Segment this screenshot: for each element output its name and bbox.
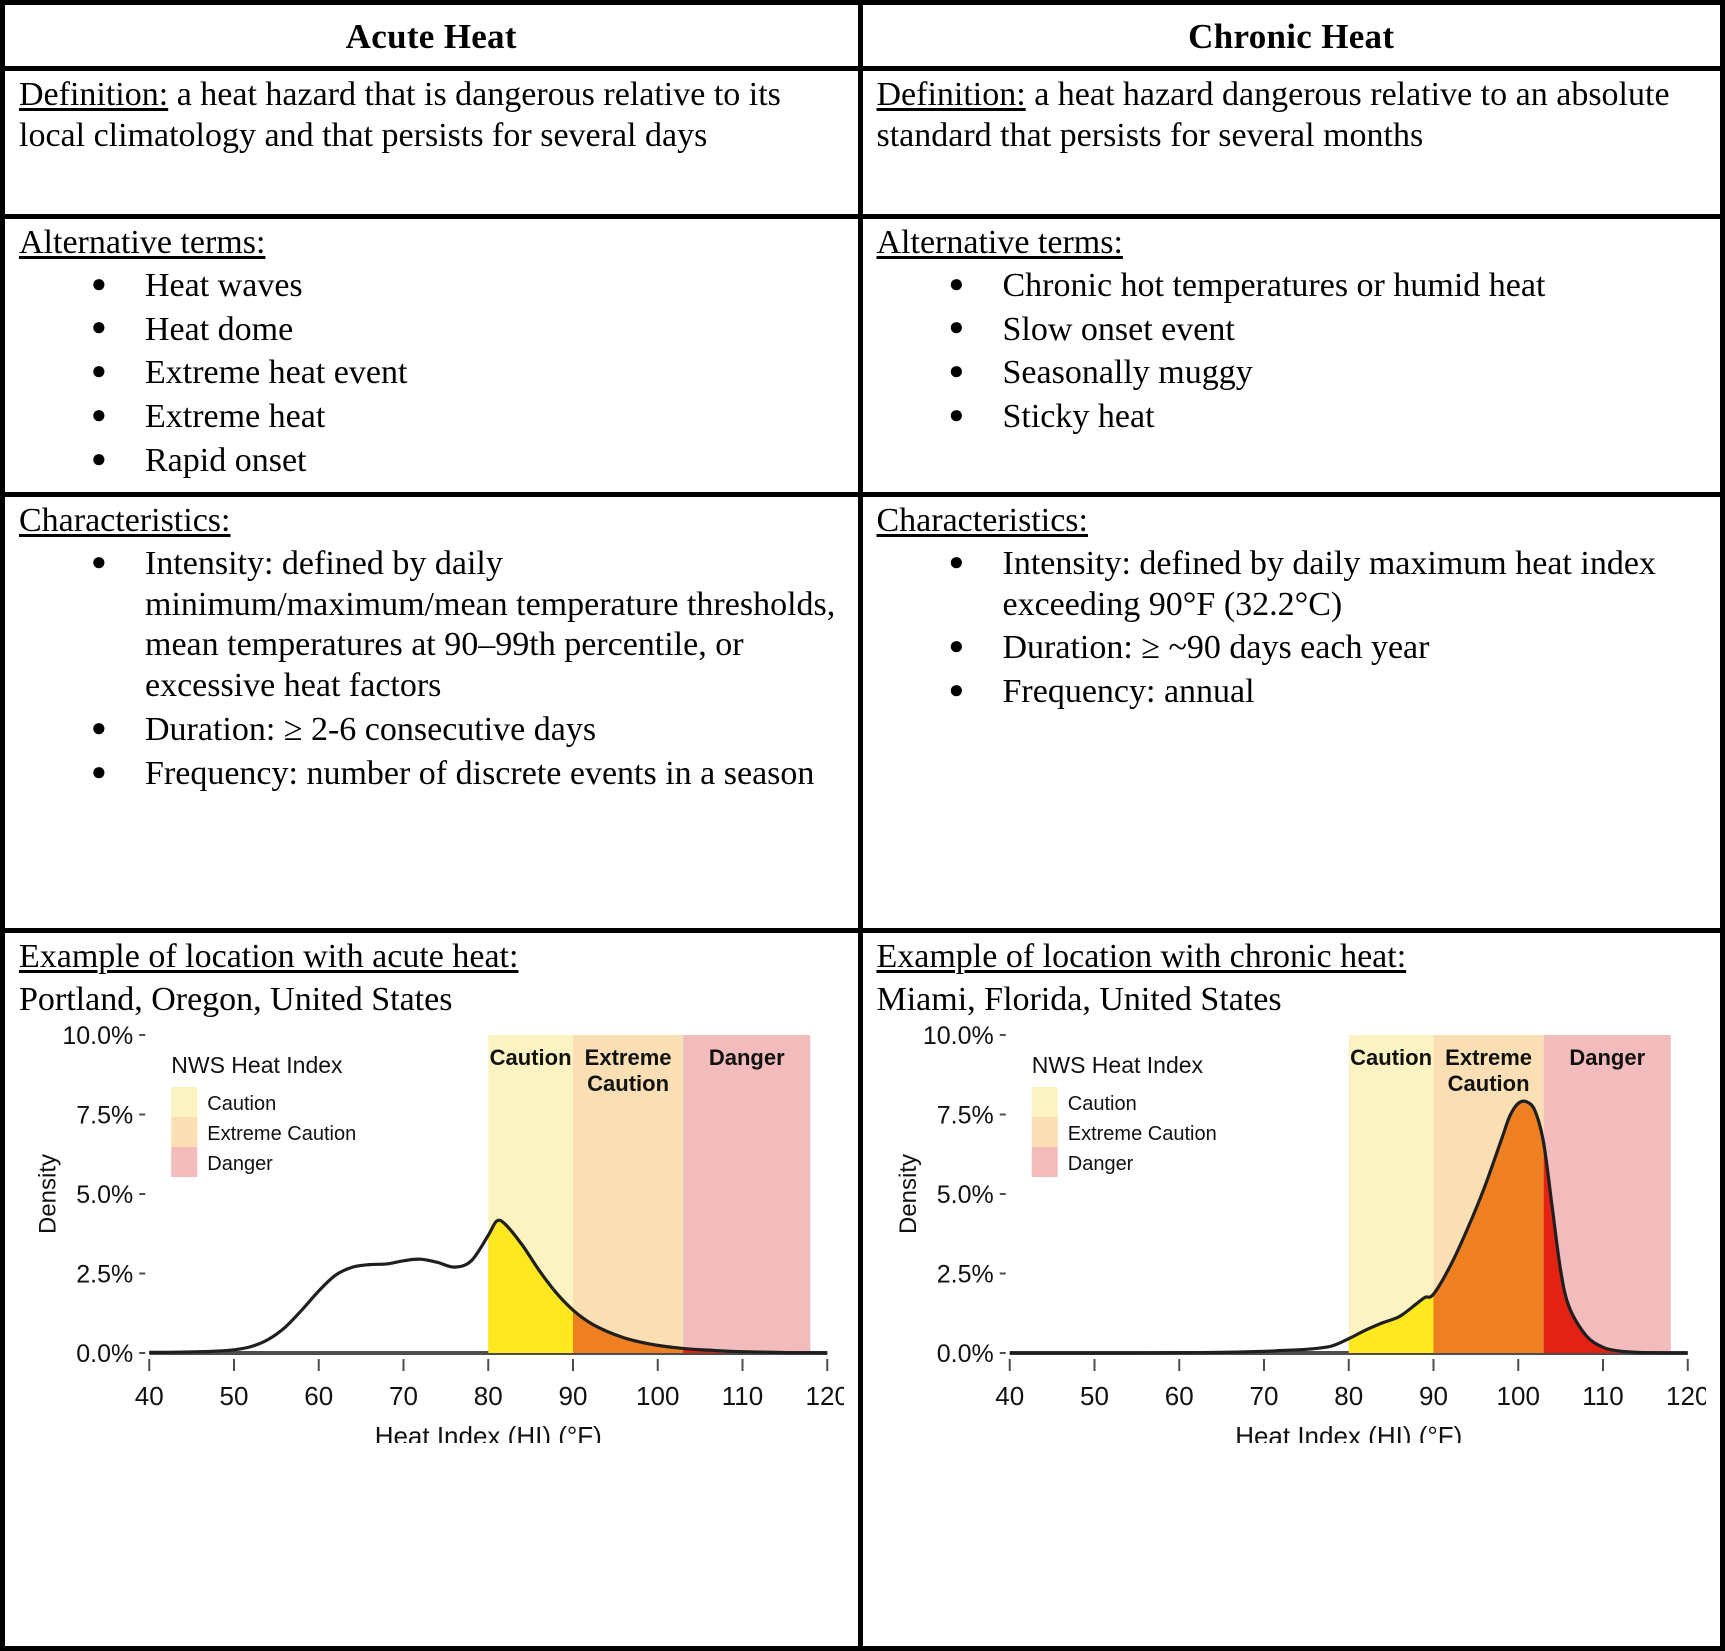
bullet-icon: ● xyxy=(91,311,107,342)
y-tick-label: 2.5% xyxy=(76,1260,133,1288)
band-label-text: Caution xyxy=(587,1071,669,1096)
alt-terms-cell-acute: Alternative terms: ●Heat waves ●Heat dom… xyxy=(5,219,863,492)
legend-swatch xyxy=(171,1147,197,1177)
list-item-label: Duration: ≥ ~90 days each year xyxy=(1003,629,1430,666)
characteristics-cell-acute: Characteristics: ●Intensity: defined by … xyxy=(5,497,863,928)
legend-swatch xyxy=(171,1087,197,1117)
list-item-label: Frequency: annual xyxy=(1003,673,1255,710)
x-tick-label: 100 xyxy=(1496,1381,1539,1411)
x-tick-label: 100 xyxy=(636,1381,679,1411)
characteristics-cell-chronic: Characteristics: ●Intensity: defined by … xyxy=(863,497,1721,928)
alt-terms-label-acute: Alternative terms: xyxy=(19,223,844,264)
definition-paragraph-chronic: Definition: a heat hazard dangerous rela… xyxy=(877,75,1707,157)
list-item-label: Intensity: defined by daily minimum/maxi… xyxy=(145,545,835,704)
legend-entry-label: Danger xyxy=(1067,1153,1133,1175)
characteristics-row: Characteristics: ●Intensity: defined by … xyxy=(5,497,1720,933)
list-item: ●Extreme heat event xyxy=(91,353,844,394)
band-danger xyxy=(683,1035,810,1353)
list-item-label: Extreme heat xyxy=(145,398,325,435)
list-item: ●Frequency: number of discrete events in… xyxy=(91,754,844,795)
legend-entry-label: Extreme Caution xyxy=(1067,1123,1216,1145)
y-axis-title: Density xyxy=(34,1154,61,1234)
list-item-label: Intensity: defined by daily maximum heat… xyxy=(1003,545,1656,623)
y-tick-label: 5.0% xyxy=(76,1181,133,1209)
y-tick-label: 2.5% xyxy=(936,1260,993,1288)
y-tick-label: 7.5% xyxy=(76,1101,133,1129)
list-item: ●Rapid onset xyxy=(91,441,844,482)
y-axis: 0.0%2.5%5.0%7.5%10.0%Density xyxy=(894,1023,1005,1368)
legend-swatch xyxy=(1031,1087,1057,1117)
x-tick-label: 70 xyxy=(1249,1381,1278,1411)
characteristics-label-acute: Characteristics: xyxy=(19,501,844,542)
x-axis: 405060708090100110120Heat Index (HI) (°F… xyxy=(135,1359,844,1443)
example-cell-chronic: Example of location with chronic heat: M… xyxy=(863,933,1721,1646)
characteristics-list-acute: ●Intensity: defined by daily minimum/max… xyxy=(19,544,844,795)
bullet-icon: ● xyxy=(91,443,107,474)
alt-terms-label-chronic: Alternative terms: xyxy=(877,223,1707,264)
list-item: ●Heat dome xyxy=(91,310,844,351)
alternative-terms-row: Alternative terms: ●Heat waves ●Heat dom… xyxy=(5,219,1720,497)
x-tick-label: 110 xyxy=(1582,1381,1623,1411)
chart-legend: NWS Heat IndexCautionExtreme CautionDang… xyxy=(171,1052,356,1177)
table-header-row: Acute Heat Chronic Heat xyxy=(5,5,1720,71)
list-item-label: Sticky heat xyxy=(1003,398,1155,435)
bullet-icon: ● xyxy=(949,630,965,661)
legend-swatch xyxy=(1031,1147,1057,1177)
y-tick-label: 10.0% xyxy=(62,1023,133,1050)
legend-entry-label: Caution xyxy=(1067,1093,1136,1115)
bullet-icon: ● xyxy=(949,546,965,577)
characteristics-label-chronic: Characteristics: xyxy=(877,501,1707,542)
example-place-chronic: Miami, Florida, United States xyxy=(877,980,1707,1021)
list-item: ●Sticky heat xyxy=(949,397,1707,438)
legend-title: NWS Heat Index xyxy=(171,1052,343,1078)
band-label-text: Caution xyxy=(1350,1045,1432,1070)
x-tick-label: 80 xyxy=(1334,1381,1363,1411)
definition-cell-acute: Definition: a heat hazard that is danger… xyxy=(5,71,863,214)
x-tick-label: 70 xyxy=(389,1381,418,1411)
x-tick-label: 40 xyxy=(135,1381,164,1411)
x-tick-label: 90 xyxy=(1419,1381,1448,1411)
example-row: Example of location with acute heat: Por… xyxy=(5,933,1720,1646)
x-tick-label: 110 xyxy=(722,1381,763,1411)
column-header-chronic: Chronic Heat xyxy=(863,5,1721,66)
density-chart-portland: CautionExtremeCautionDangerNWS Heat Inde… xyxy=(19,1023,844,1443)
bullet-icon: ● xyxy=(91,546,107,577)
y-tick-label: 0.0% xyxy=(76,1340,133,1368)
definition-label-acute: Definition: xyxy=(19,76,168,113)
x-tick-label: 60 xyxy=(304,1381,333,1411)
bullet-icon: ● xyxy=(91,355,107,386)
y-tick-label: 5.0% xyxy=(936,1181,993,1209)
bullet-icon: ● xyxy=(949,399,965,430)
example-cell-acute: Example of location with acute heat: Por… xyxy=(5,933,863,1646)
band-label-text: Danger xyxy=(709,1045,785,1070)
x-tick-label: 120 xyxy=(806,1381,844,1411)
bullet-icon: ● xyxy=(91,399,107,430)
bullet-icon: ● xyxy=(91,712,107,743)
band-label-text: Danger xyxy=(1569,1045,1645,1070)
legend-swatch xyxy=(171,1117,197,1147)
list-item-label: Frequency: number of discrete events in … xyxy=(145,755,814,792)
chart-legend: NWS Heat IndexCautionExtreme CautionDang… xyxy=(1031,1052,1216,1177)
band-label-text: Caution xyxy=(490,1045,572,1070)
band-label-text: Caution xyxy=(1447,1071,1529,1096)
bullet-icon: ● xyxy=(91,756,107,787)
band-label-text: Extreme xyxy=(1445,1045,1532,1070)
legend-entry-label: Extreme Caution xyxy=(207,1123,356,1145)
band-label-text: Extreme xyxy=(585,1045,672,1070)
y-tick-label: 10.0% xyxy=(922,1023,993,1050)
list-item-label: Rapid onset xyxy=(145,442,306,479)
example-label-chronic: Example of location with chronic heat: xyxy=(877,937,1707,978)
legend-entry-label: Danger xyxy=(207,1153,273,1175)
list-item: ●Chronic hot temperatures or humid heat xyxy=(949,266,1707,307)
x-tick-label: 40 xyxy=(995,1381,1024,1411)
definition-cell-chronic: Definition: a heat hazard dangerous rela… xyxy=(863,71,1721,214)
list-item: ●Heat waves xyxy=(91,266,844,307)
column-header-acute: Acute Heat xyxy=(5,5,863,66)
example-place-acute: Portland, Oregon, United States xyxy=(19,980,844,1021)
list-item-label: Heat waves xyxy=(145,267,303,304)
legend-entry-label: Caution xyxy=(207,1093,276,1115)
list-item: ●Extreme heat xyxy=(91,397,844,438)
acute-heat-title: Acute Heat xyxy=(19,9,844,66)
density-chart-miami: CautionExtremeCautionDangerNWS Heat Inde… xyxy=(877,1023,1707,1443)
x-tick-label: 60 xyxy=(1164,1381,1193,1411)
definition-label-chronic: Definition: xyxy=(877,76,1026,113)
definition-row: Definition: a heat hazard that is danger… xyxy=(5,71,1720,219)
list-item-label: Duration: ≥ 2-6 consecutive days xyxy=(145,711,596,748)
characteristics-list-chronic: ●Intensity: defined by daily maximum hea… xyxy=(877,544,1707,713)
example-label-acute: Example of location with acute heat: xyxy=(19,937,844,978)
heat-comparison-table: Acute Heat Chronic Heat Definition: a he… xyxy=(0,0,1725,1651)
x-tick-label: 90 xyxy=(559,1381,588,1411)
y-axis: 0.0%2.5%5.0%7.5%10.0%Density xyxy=(34,1023,145,1368)
list-item-label: Heat dome xyxy=(145,311,293,348)
list-item-label: Slow onset event xyxy=(1003,311,1235,348)
bullet-icon: ● xyxy=(949,355,965,386)
bullet-icon: ● xyxy=(949,311,965,342)
chronic-heat-title: Chronic Heat xyxy=(877,9,1707,66)
alt-terms-cell-chronic: Alternative terms: ●Chronic hot temperat… xyxy=(863,219,1721,492)
legend-title: NWS Heat Index xyxy=(1031,1052,1203,1078)
x-axis: 405060708090100110120Heat Index (HI) (°F… xyxy=(995,1359,1706,1443)
list-item-label: Chronic hot temperatures or humid heat xyxy=(1003,267,1546,304)
list-item: ●Seasonally muggy xyxy=(949,353,1707,394)
bullet-icon: ● xyxy=(949,268,965,299)
alt-terms-list-acute: ●Heat waves ●Heat dome ●Extreme heat eve… xyxy=(19,266,844,482)
y-axis-title: Density xyxy=(894,1154,921,1234)
x-tick-label: 80 xyxy=(474,1381,503,1411)
list-item: ●Intensity: defined by daily maximum hea… xyxy=(949,544,1707,626)
x-tick-label: 50 xyxy=(220,1381,249,1411)
x-axis-title: Heat Index (HI) (°F) xyxy=(375,1421,602,1443)
list-item: ●Duration: ≥ ~90 days each year xyxy=(949,628,1707,669)
bullet-icon: ● xyxy=(949,674,965,705)
alt-terms-list-chronic: ●Chronic hot temperatures or humid heat … xyxy=(877,266,1707,438)
list-item-label: Extreme heat event xyxy=(145,354,407,391)
x-axis-title: Heat Index (HI) (°F) xyxy=(1235,1421,1462,1443)
y-tick-label: 0.0% xyxy=(936,1340,993,1368)
definition-paragraph-acute: Definition: a heat hazard that is danger… xyxy=(19,75,844,157)
x-tick-label: 120 xyxy=(1666,1381,1706,1411)
list-item: ●Intensity: defined by daily minimum/max… xyxy=(91,544,844,707)
list-item: ●Duration: ≥ 2-6 consecutive days xyxy=(91,710,844,751)
y-tick-label: 7.5% xyxy=(936,1101,993,1129)
x-tick-label: 50 xyxy=(1080,1381,1109,1411)
legend-swatch xyxy=(1031,1117,1057,1147)
list-item: ●Frequency: annual xyxy=(949,672,1707,713)
bullet-icon: ● xyxy=(91,268,107,299)
list-item: ●Slow onset event xyxy=(949,310,1707,351)
list-item-label: Seasonally muggy xyxy=(1003,354,1253,391)
